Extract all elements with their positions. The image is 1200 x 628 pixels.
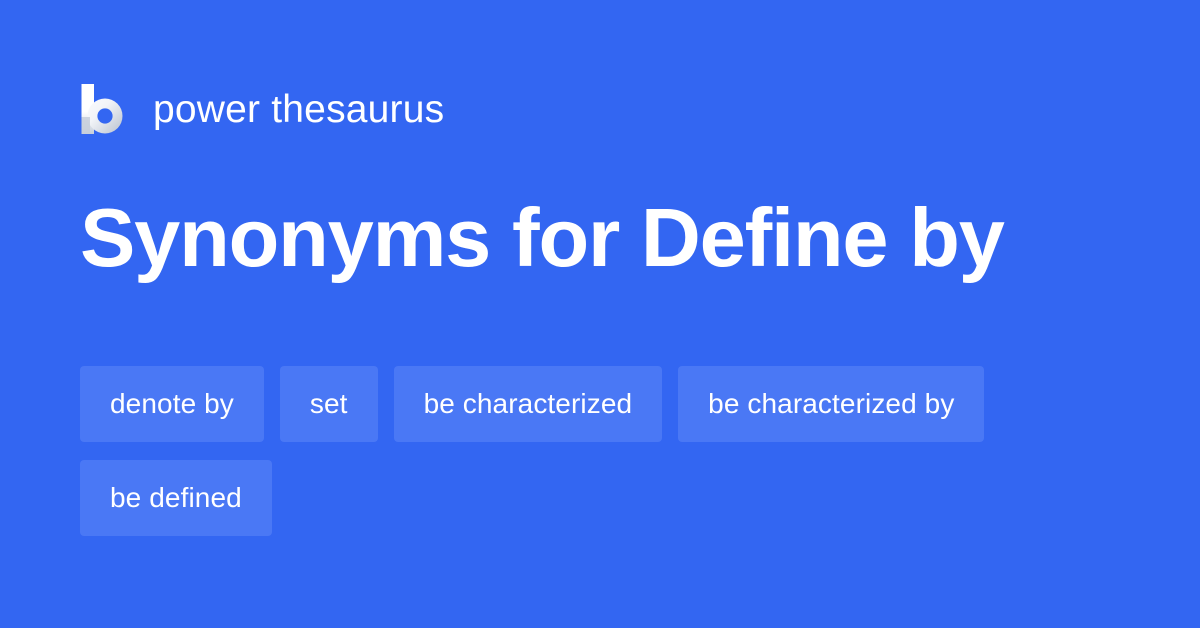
share-card: power thesaurus Synonyms for Define by d… (0, 0, 1200, 628)
synonym-chip[interactable]: be characterized (394, 366, 663, 442)
brand-name: power thesaurus (153, 90, 444, 129)
synonym-chip[interactable]: be characterized by (678, 366, 984, 442)
synonym-chip[interactable]: denote by (80, 366, 264, 442)
synonym-chip[interactable]: set (280, 366, 378, 442)
synonym-chip-list: denote by set be characterized be charac… (80, 366, 1120, 536)
page-title: Synonyms for Define by (80, 196, 1120, 279)
synonym-chip[interactable]: be defined (80, 460, 272, 536)
power-thesaurus-b-logo-icon (80, 84, 126, 134)
brand-logo[interactable]: power thesaurus (80, 80, 444, 138)
